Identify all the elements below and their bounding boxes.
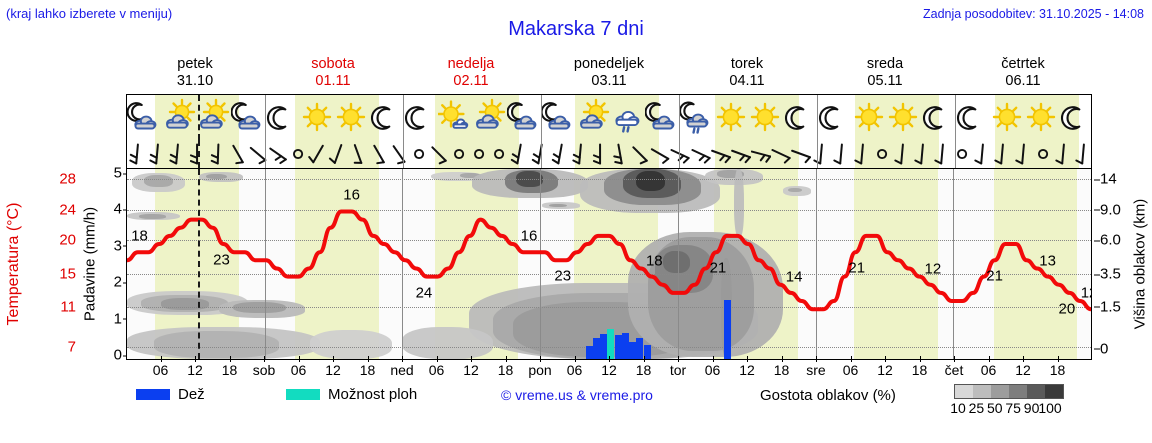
wind-barb bbox=[630, 140, 650, 168]
day-separator-5 bbox=[817, 140, 818, 168]
sun-icon bbox=[1024, 95, 1059, 141]
day-date: 03.11 bbox=[540, 73, 678, 90]
cloud-density-segment-100 bbox=[1045, 385, 1063, 398]
x-tick-label-06: 06 bbox=[705, 362, 721, 378]
temperature-value-label: 13 bbox=[1039, 252, 1056, 269]
day-header-sreda: sreda05.11 bbox=[816, 56, 954, 90]
temperature-value-label: 21 bbox=[710, 260, 727, 277]
copyright-link[interactable]: © vreme.us & vreme.pro bbox=[501, 387, 653, 403]
legend-label-showers: Možnost ploh bbox=[328, 386, 417, 403]
day-name: ponedeljek bbox=[540, 56, 678, 73]
x-tick-label-18: 18 bbox=[636, 362, 652, 378]
cloud-density-segment-25 bbox=[973, 385, 991, 398]
temperature-axis-title: Temperatura (°C) bbox=[2, 168, 26, 360]
wind-barb bbox=[912, 140, 932, 168]
day-date: 05.11 bbox=[816, 73, 954, 90]
meteogram-plot-inner: 182316241623182114211221132012 bbox=[127, 169, 1091, 359]
wind-barb bbox=[127, 140, 147, 168]
day-separator-1 bbox=[265, 140, 266, 168]
x-tick-label-12: 12 bbox=[601, 362, 617, 378]
cloud-density-tick-25: 25 bbox=[969, 400, 985, 416]
cloud-density-tick-10: 10 bbox=[950, 400, 966, 416]
moon-cloud-icon bbox=[231, 95, 266, 141]
day-date: 04.11 bbox=[678, 73, 816, 90]
wind-barb bbox=[489, 140, 509, 168]
day-header-nedelja: nedelja02.11 bbox=[402, 56, 540, 90]
temperature-tick-11: 11 bbox=[60, 298, 76, 315]
wind-barb bbox=[610, 140, 630, 168]
day-name: četrtek bbox=[954, 56, 1092, 73]
precipitation-tick-0: 0 bbox=[114, 347, 122, 364]
moon-icon bbox=[403, 95, 438, 141]
temperature-tick-24: 24 bbox=[59, 201, 76, 218]
day-date: 01.11 bbox=[264, 73, 402, 90]
x-tick-label-12: 12 bbox=[1015, 362, 1031, 378]
moon-icon bbox=[783, 95, 818, 141]
wind-barb bbox=[972, 140, 992, 168]
wind-barb bbox=[268, 140, 288, 168]
wind-barb bbox=[1033, 140, 1053, 168]
temperature-tick-7: 7 bbox=[68, 338, 76, 355]
x-tick-label-06: 06 bbox=[153, 362, 169, 378]
wind-barb bbox=[550, 140, 570, 168]
wind-barb bbox=[308, 140, 328, 168]
sun-cloud-icon bbox=[196, 95, 231, 141]
current-time-marker bbox=[198, 95, 200, 140]
wind-barb bbox=[449, 140, 469, 168]
precipitation-axis-title: Padavine (mm/h) bbox=[78, 168, 102, 360]
cloud-height-tick-3-5: 3.5 bbox=[1100, 266, 1121, 283]
wind-barb bbox=[1073, 140, 1093, 168]
x-tick-label-18: 18 bbox=[774, 362, 790, 378]
wind-barb bbox=[389, 140, 409, 168]
current-time-marker bbox=[198, 169, 200, 359]
day-separator-4 bbox=[679, 95, 680, 140]
precipitation-tick-4: 4 bbox=[114, 201, 122, 218]
cloud-density-segment-75 bbox=[1009, 385, 1027, 398]
day-name: torek bbox=[678, 56, 816, 73]
moon-icon bbox=[369, 95, 404, 141]
wind-barb bbox=[852, 140, 872, 168]
temperature-value-label: 18 bbox=[131, 228, 148, 245]
wind-barb bbox=[570, 140, 590, 168]
cloud-height-axis-title: Višina oblakov (km) bbox=[1128, 168, 1152, 360]
day-date: 31.10 bbox=[126, 73, 264, 90]
x-tick-label-18: 18 bbox=[1050, 362, 1066, 378]
wind-barb bbox=[751, 140, 771, 168]
day-separator-3 bbox=[541, 140, 542, 168]
sun-icon bbox=[886, 95, 921, 141]
cloud-density-segment-90 bbox=[1027, 385, 1045, 398]
x-tick-label-06: 06 bbox=[291, 362, 307, 378]
wind-barb bbox=[872, 140, 892, 168]
precipitation-tick-5: 5 bbox=[114, 165, 122, 182]
wind-barb-row bbox=[126, 140, 1092, 168]
day-separator-4 bbox=[679, 140, 680, 168]
temperature-value-label: 18 bbox=[646, 252, 663, 269]
x-tick-label-06: 06 bbox=[567, 362, 583, 378]
moon-icon bbox=[265, 95, 300, 141]
sun-icon bbox=[748, 95, 783, 141]
x-axis-labels: 061218sob061218ned061218pon061218tor0612… bbox=[126, 362, 1092, 382]
moon-icon bbox=[955, 95, 990, 141]
moon-cloud-icon bbox=[541, 95, 576, 141]
day-name: nedelja bbox=[402, 56, 540, 73]
wind-barb bbox=[670, 140, 690, 168]
wind-barb bbox=[208, 140, 228, 168]
day-header-četrtek: četrtek06.11 bbox=[954, 56, 1092, 90]
legend-item-showers: Možnost ploh bbox=[286, 386, 417, 403]
temperature-value-label: 20 bbox=[1059, 300, 1076, 317]
cloud-density-tick-90: 90 bbox=[1024, 400, 1040, 416]
moon-cloud-icon bbox=[645, 95, 680, 141]
temperature-tick-15: 15 bbox=[59, 266, 76, 283]
wind-barb bbox=[328, 140, 348, 168]
temperature-value-label: 23 bbox=[213, 252, 230, 269]
cloud-density-tick-50: 50 bbox=[987, 400, 1003, 416]
cloud-density-segment-50 bbox=[991, 385, 1009, 398]
precipitation-axis-title-text: Padavine (mm/h) bbox=[82, 207, 99, 321]
wind-barb bbox=[892, 140, 912, 168]
sun-icon bbox=[714, 95, 749, 141]
moon-icon bbox=[921, 95, 956, 141]
temperature-value-label: 23 bbox=[554, 268, 571, 285]
precipitation-tick-1: 1 bbox=[114, 310, 122, 327]
x-tick-label-06: 06 bbox=[429, 362, 445, 378]
wind-barb bbox=[711, 140, 731, 168]
legend-item-rain: Dež bbox=[136, 386, 205, 403]
day-header-torek: torek04.11 bbox=[678, 56, 816, 90]
wind-barb bbox=[590, 140, 610, 168]
page-title: Makarska 7 dni bbox=[0, 18, 1152, 41]
x-tick-label-tor: tor bbox=[670, 362, 686, 378]
cloud-density-tick-100: 100 bbox=[1038, 400, 1061, 416]
precipitation-tick-3: 3 bbox=[114, 237, 122, 254]
x-tick-label-pon: pon bbox=[528, 362, 551, 378]
wind-barb bbox=[771, 140, 791, 168]
wind-barb bbox=[1013, 140, 1033, 168]
meteogram-plot: 182316241623182114211221132012 bbox=[126, 168, 1092, 360]
day-separator-6 bbox=[955, 140, 956, 168]
wind-barb bbox=[348, 140, 368, 168]
x-tick-label-12: 12 bbox=[877, 362, 893, 378]
temperature-tick-28: 28 bbox=[59, 171, 76, 188]
day-separator-3 bbox=[541, 95, 542, 140]
cloud-density-colorbar bbox=[954, 384, 1064, 399]
cloud-rain-icon bbox=[610, 95, 645, 141]
cloud-height-tick-1-5: 1.5 bbox=[1100, 298, 1121, 315]
temperature-value-label: 16 bbox=[343, 187, 360, 204]
tick-mark bbox=[1094, 240, 1100, 241]
wind-barb bbox=[288, 140, 308, 168]
showers-swatch bbox=[286, 389, 320, 400]
wind-barb bbox=[530, 140, 550, 168]
tick-mark bbox=[1094, 210, 1100, 211]
sun-cloud-icon bbox=[472, 95, 507, 141]
weather-icon-row bbox=[126, 94, 1092, 140]
wind-barb bbox=[228, 140, 248, 168]
last-update-label: Zadnja posodobitev: 31.10.2025 - 14:08 bbox=[923, 7, 1144, 21]
x-tick-label-sob: sob bbox=[253, 362, 276, 378]
day-headers: petek31.10sobota01.11nedelja02.11ponedel… bbox=[126, 56, 1092, 92]
cloud-height-axis-title-text: Višina oblakov (km) bbox=[1132, 199, 1149, 330]
wind-barb bbox=[831, 140, 851, 168]
cloud-height-axis: 149.06.03.51.50 bbox=[1094, 168, 1130, 360]
temperature-axis-title-text: Temperatura (°C) bbox=[5, 203, 23, 326]
rain-swatch bbox=[136, 389, 170, 400]
temperature-value-label: 12 bbox=[925, 260, 942, 277]
cloud-density-segment-10 bbox=[955, 385, 973, 398]
wind-barb bbox=[469, 140, 489, 168]
x-tick-label-12: 12 bbox=[187, 362, 203, 378]
tick-mark bbox=[1094, 349, 1100, 350]
tick-mark bbox=[1094, 179, 1100, 180]
cloud-density-tick-75: 75 bbox=[1005, 400, 1021, 416]
sun-icon bbox=[334, 95, 369, 141]
day-name: petek bbox=[126, 56, 264, 73]
x-tick-label-18: 18 bbox=[498, 362, 514, 378]
day-header-ponedeljek: ponedeljek03.11 bbox=[540, 56, 678, 90]
sun-cloud-icon bbox=[162, 95, 197, 141]
sun-icon bbox=[990, 95, 1025, 141]
sun-icon bbox=[300, 95, 335, 141]
legend: Dež Možnost ploh © vreme.us & vreme.pro … bbox=[126, 386, 1146, 426]
moon-cloud-icon bbox=[127, 95, 162, 141]
x-tick-label-sre: sre bbox=[806, 362, 825, 378]
cloud-density-tick-labels: 1025507590100 bbox=[946, 400, 1076, 418]
wind-barb bbox=[791, 140, 811, 168]
temperature-value-label: 12 bbox=[1081, 285, 1091, 302]
x-tick-label-18: 18 bbox=[222, 362, 238, 378]
legend-label-rain: Dež bbox=[178, 386, 205, 403]
moon-cloud-rain-icon bbox=[679, 95, 714, 141]
x-tick-label-12: 12 bbox=[463, 362, 479, 378]
x-tick-label-12: 12 bbox=[739, 362, 755, 378]
day-separator-2 bbox=[403, 95, 404, 140]
temperature-value-label: 21 bbox=[986, 268, 1003, 285]
wind-barb bbox=[932, 140, 952, 168]
cloud-density-legend-title: Gostota oblakov (%) bbox=[760, 387, 896, 404]
temperature-value-label: 16 bbox=[521, 228, 538, 245]
temperature-value-label: 21 bbox=[848, 260, 865, 277]
wind-barb bbox=[429, 140, 449, 168]
temperature-curve bbox=[127, 169, 1091, 359]
day-header-petek: petek31.10 bbox=[126, 56, 264, 90]
wind-barb bbox=[147, 140, 167, 168]
x-tick-label-čet: čet bbox=[945, 362, 964, 378]
day-separator-2 bbox=[403, 140, 404, 168]
day-name: sreda bbox=[816, 56, 954, 73]
day-separator-5 bbox=[817, 95, 818, 140]
temperature-value-label: 14 bbox=[786, 268, 803, 285]
cloud-height-tick-6-0: 6.0 bbox=[1100, 232, 1121, 249]
day-date: 06.11 bbox=[954, 73, 1092, 90]
x-tick-label-18: 18 bbox=[360, 362, 376, 378]
moon-icon bbox=[817, 95, 852, 141]
x-tick-label-18: 18 bbox=[912, 362, 928, 378]
wind-barb bbox=[992, 140, 1012, 168]
cloud-height-tick-0: 0 bbox=[1100, 340, 1108, 357]
cloud-height-tick-14: 14 bbox=[1100, 171, 1117, 188]
day-separator-1 bbox=[265, 95, 266, 140]
x-tick-label-06: 06 bbox=[843, 362, 859, 378]
x-tick-label-12: 12 bbox=[325, 362, 341, 378]
tick-mark bbox=[1094, 307, 1100, 308]
wind-barb bbox=[509, 140, 529, 168]
sun-icon bbox=[852, 95, 887, 141]
x-tick-label-ned: ned bbox=[390, 362, 413, 378]
temperature-line bbox=[127, 212, 1091, 310]
wind-barb bbox=[1053, 140, 1073, 168]
wind-barb bbox=[409, 140, 429, 168]
day-separator-6 bbox=[955, 95, 956, 140]
x-tick-label-06: 06 bbox=[981, 362, 997, 378]
day-date: 02.11 bbox=[402, 73, 540, 90]
wind-barb bbox=[167, 140, 187, 168]
temperature-value-label: 24 bbox=[416, 284, 433, 301]
precipitation-tick-2: 2 bbox=[114, 274, 122, 291]
current-time-marker bbox=[198, 140, 200, 168]
sun-cloud-icon bbox=[576, 95, 611, 141]
moon-cloud-icon bbox=[507, 95, 542, 141]
temperature-axis: 28242015117 bbox=[30, 168, 76, 360]
wind-barb bbox=[691, 140, 711, 168]
day-header-sobota: sobota01.11 bbox=[264, 56, 402, 90]
sun-smallcloud-icon bbox=[438, 95, 473, 141]
tick-mark bbox=[1094, 274, 1100, 275]
wind-barb bbox=[811, 140, 831, 168]
temperature-tick-20: 20 bbox=[59, 232, 76, 249]
cloud-height-tick-9-0: 9.0 bbox=[1100, 201, 1121, 218]
wind-barb bbox=[650, 140, 670, 168]
precipitation-axis: 543210 bbox=[100, 168, 122, 360]
wind-barb bbox=[731, 140, 751, 168]
moon-icon bbox=[1059, 95, 1094, 141]
wind-barb bbox=[369, 140, 389, 168]
day-name: sobota bbox=[264, 56, 402, 73]
